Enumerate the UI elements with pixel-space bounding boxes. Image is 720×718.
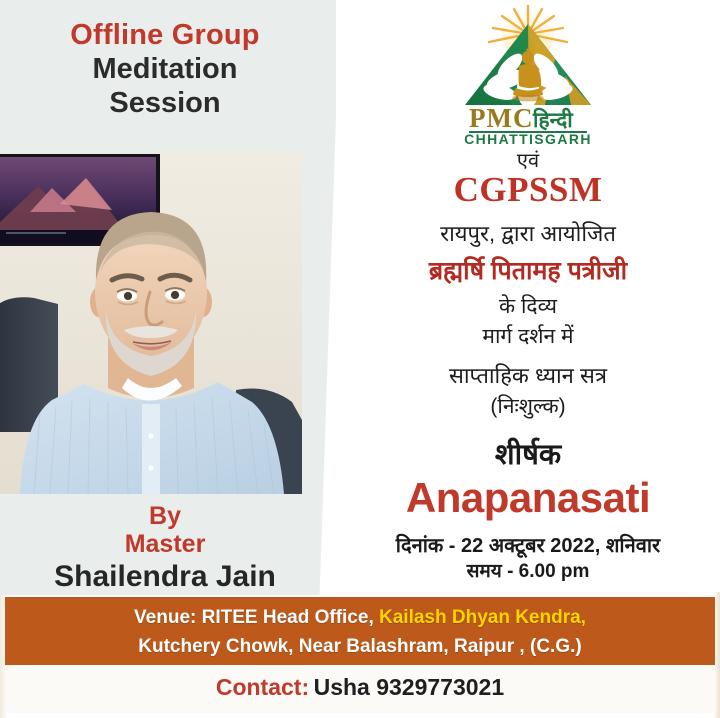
event-poster: Offline Group Meditation Session — [0, 0, 720, 718]
contact-value[interactable]: Usha 9329773021 — [314, 674, 505, 700]
event-date: दिनांक - 22 अक्टूबर 2022, शनिवार — [336, 531, 720, 558]
organizer-location-line: रायपुर, द्वारा आयोजित — [336, 218, 720, 248]
session-title-label: शीर्षक — [336, 434, 720, 473]
poster-headline: Offline Group Meditation Session — [0, 18, 330, 121]
guru-name: ब्रह्मर्षि पितामह पत्रीजी — [336, 253, 720, 287]
pmc-hindi-chhattisgarh-logo: PMC हिन्दी CHHATTISGARH — [453, 4, 603, 146]
headline-line-2: Meditation — [0, 52, 330, 86]
line-marg-darshan: मार्ग दर्शन में — [336, 322, 720, 350]
contact-label: Contact: — [216, 674, 309, 700]
headline-line-1: Offline Group — [0, 18, 330, 52]
contact-bar: Contact: Usha 9329773021 — [5, 665, 715, 713]
headline-line-3: Session — [0, 86, 330, 120]
venue-prefix: Venue: RITEE Head Office, — [134, 607, 379, 628]
session-title: Anapanasati — [336, 474, 720, 522]
organizer-abbrev: CGPSSM — [336, 170, 720, 210]
speaker-name: Shailendra Jain — [0, 560, 330, 594]
svg-text:हिन्दी: हिन्दी — [532, 107, 574, 132]
svg-text:CHHATTISGARH: CHHATTISGARH — [464, 131, 592, 146]
line-saptahik-dhyan-satra: साप्ताहिक ध्यान सत्र — [336, 360, 720, 390]
speaker-photo — [0, 152, 302, 494]
event-time: समय - 6.00 pm — [336, 557, 720, 583]
svg-text:PMC: PMC — [469, 103, 533, 133]
venue-line-2: Kutchery Chowk, Near Balashram, Raipur ,… — [5, 632, 715, 661]
right-panel: PMC हिन्दी CHHATTISGARH एवं CGPSSM रायपु… — [336, 0, 720, 592]
conjunction-evam: एवं — [336, 146, 720, 173]
venue-line-1: Venue: RITEE Head Office, Kailash Dhyan … — [5, 603, 715, 632]
venue-bar: Venue: RITEE Head Office, Kailash Dhyan … — [5, 597, 715, 665]
byline-by: By — [0, 502, 330, 530]
byline-role: Master — [0, 530, 330, 558]
line-ke-divya: के दिव्य — [336, 292, 720, 320]
line-nishulk: (निःशुल्क) — [336, 392, 720, 420]
speaker-byline: By Master Shailendra Jain — [0, 502, 330, 594]
venue-highlight: Kailash Dhyan Kendra, — [379, 607, 586, 628]
